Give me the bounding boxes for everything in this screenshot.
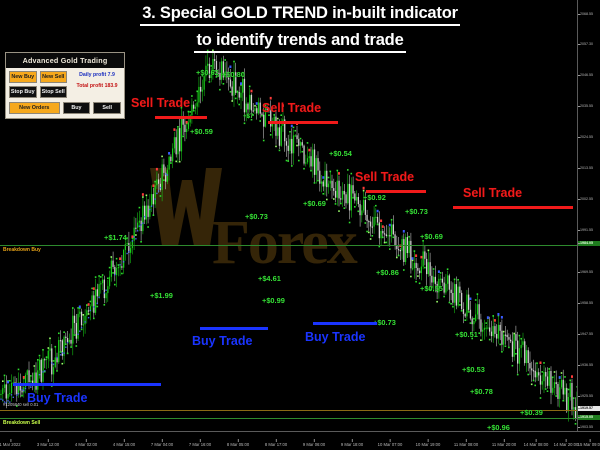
sell-trade-1-bar <box>155 116 207 119</box>
price-tick: 1903.55 <box>578 425 600 430</box>
time-tick: 14 Mar 20:00 <box>554 442 579 448</box>
profit-tag: +$0.78 <box>470 387 493 396</box>
annotation-label: Sell Trade <box>355 170 414 184</box>
time-tick: 3 Mar 12:00 <box>37 442 59 448</box>
sell-trade-4-bar <box>453 206 573 209</box>
price-tick: 1925.55 <box>578 394 600 399</box>
price-axis[interactable]: 2068.552057.302046.552035.552024.552013.… <box>577 0 600 432</box>
time-tick: 4 Mar 15:00 <box>113 442 135 448</box>
annotation-label: Buy Trade <box>27 391 87 405</box>
annotation-label: Buy Trade <box>305 330 365 344</box>
price-tick: 1915.05 <box>578 415 600 420</box>
profit-tag: +$0.39 <box>520 408 543 417</box>
title-line-2: to identify trends and trade <box>194 31 405 53</box>
price-tick: 1984.05 <box>578 241 600 246</box>
annotation-label: Sell Trade <box>262 101 321 115</box>
profit-tag: +$1.74 <box>104 233 127 242</box>
time-tick: 10 Mar 07:00 <box>378 442 403 448</box>
profit-tag: +$0.69 <box>303 199 326 208</box>
total-profit-value: Total profit 183.9 <box>73 83 121 90</box>
profit-tag: +$0.54 <box>329 149 352 158</box>
buy-trade-2: Buy Trade <box>305 330 365 344</box>
sell-trade-3: Sell Trade <box>355 170 414 184</box>
sell-trade-2-bar <box>268 121 338 124</box>
annotation-bar <box>313 322 377 325</box>
buy-trade-1-bar <box>200 327 268 330</box>
price-tick: 1991.55 <box>578 228 600 233</box>
time-tick: 10 Mar 19:00 <box>416 442 441 448</box>
time-tick: 1 Mar 2022 <box>0 442 21 448</box>
trading-chart-screenshot: Forex Breakdown BuyBreakdown Sell#120584… <box>0 0 600 450</box>
annotation-bar <box>268 121 338 124</box>
time-tick: 7 Mar 04:00 <box>151 442 173 448</box>
time-tick: 9 Mar 18:00 <box>341 442 363 448</box>
time-tick: 4 Mar 02:00 <box>75 442 97 448</box>
level-line-label: Breakdown Sell <box>3 420 40 426</box>
price-tick: 1936.55 <box>578 363 600 368</box>
profit-tag: +$0.51 <box>455 330 478 339</box>
price-tick: 1958.55 <box>578 301 600 306</box>
profit-tag: +$0.92 <box>363 193 386 202</box>
sell-trade-4: Sell Trade <box>463 186 522 200</box>
panel-title: Advanced Gold Trading <box>6 53 124 68</box>
price-tick: 2046.55 <box>578 73 600 78</box>
title-line-1: 3. Special GOLD TREND in-built indicator <box>140 4 460 26</box>
profit-tag: +$0.99 <box>262 296 285 305</box>
sell-trade-1: Sell Trade <box>131 96 190 110</box>
new-buy-button[interactable]: New Buy <box>9 71 37 83</box>
time-tick: 14 Mar 08:00 <box>524 442 549 448</box>
buy-trade-1: Buy Trade <box>192 334 252 348</box>
profit-tag: +$0.73 <box>245 212 268 221</box>
level-line-stroke <box>0 245 578 246</box>
profit-tag: +$4.61 <box>258 274 281 283</box>
time-tick: 7 Mar 16:00 <box>189 442 211 448</box>
time-tick: 11 Mar 08:00 <box>454 442 478 448</box>
stop-sell-button[interactable]: Stop Sell <box>40 86 68 98</box>
time-tick: 8 Mar 17:00 <box>265 442 287 448</box>
buy-button[interactable]: Buy <box>63 102 91 114</box>
sell-trade-2: Sell Trade <box>262 101 321 115</box>
buy-trade-2-bar <box>313 322 377 325</box>
profit-tag: +$0.80 <box>222 70 245 79</box>
time-axis[interactable]: 1 Mar 20223 Mar 12:004 Mar 02:004 Mar 15… <box>0 431 600 450</box>
price-tick: 1919.57 <box>578 406 600 411</box>
daily-profit-value: Daily profit 7.9 <box>73 72 121 79</box>
profit-tag: +$1.99 <box>150 291 173 300</box>
price-tick: 2002.55 <box>578 197 600 202</box>
profit-tag: +$0.73 <box>405 207 428 216</box>
annotation-label: Sell Trade <box>131 96 190 110</box>
price-tick: 1969.55 <box>578 270 600 275</box>
time-tick: 9 Mar 06:00 <box>303 442 325 448</box>
buy-trade-3: Buy Trade <box>27 391 87 405</box>
profit-tag: +$0.53 <box>462 365 485 374</box>
annotation-label: Sell Trade <box>463 186 522 200</box>
profit-tag: +$0.59 <box>190 127 213 136</box>
advanced-gold-trading-panel[interactable]: Advanced Gold Trading New Buy New Sell S… <box>5 52 125 119</box>
level-line-label: Breakdown Buy <box>3 247 41 253</box>
profit-tag: +$0.62 <box>196 68 219 77</box>
level-line-stroke <box>0 418 578 419</box>
annotation-bar <box>13 383 161 386</box>
new-sell-button[interactable]: New Sell <box>40 71 68 83</box>
price-tick: 2035.55 <box>578 104 600 109</box>
slide-title: 3. Special GOLD TREND in-built indicator… <box>0 4 600 53</box>
price-tick: 2013.55 <box>578 166 600 171</box>
annotation-bar <box>155 116 207 119</box>
sell-button[interactable]: Sell <box>93 102 121 114</box>
new-orders-button[interactable]: New Orders <box>9 102 60 114</box>
price-tick: 2024.55 <box>578 135 600 140</box>
profit-tag: +$7 <box>243 113 254 120</box>
level-line-stroke <box>0 410 578 411</box>
stop-buy-button[interactable]: Stop Buy <box>9 86 37 98</box>
time-tick: 8 Mar 05:00 <box>227 442 249 448</box>
profit-tag: +$0.55 <box>420 284 443 293</box>
profit-tag: +$0.86 <box>376 268 399 277</box>
annotation-bar <box>200 327 268 330</box>
annotation-bar <box>453 206 573 209</box>
price-tick: 1947.55 <box>578 332 600 337</box>
annotation-bar <box>366 190 426 193</box>
time-tick: 11 Mar 20:00 <box>492 442 516 448</box>
sell-trade-3-bar <box>366 190 426 193</box>
buy-trade-3-bar <box>13 383 161 386</box>
time-tick: 15 Mar 09:00 <box>578 442 600 448</box>
profit-tag: +$0.69 <box>420 232 443 241</box>
annotation-label: Buy Trade <box>192 334 252 348</box>
